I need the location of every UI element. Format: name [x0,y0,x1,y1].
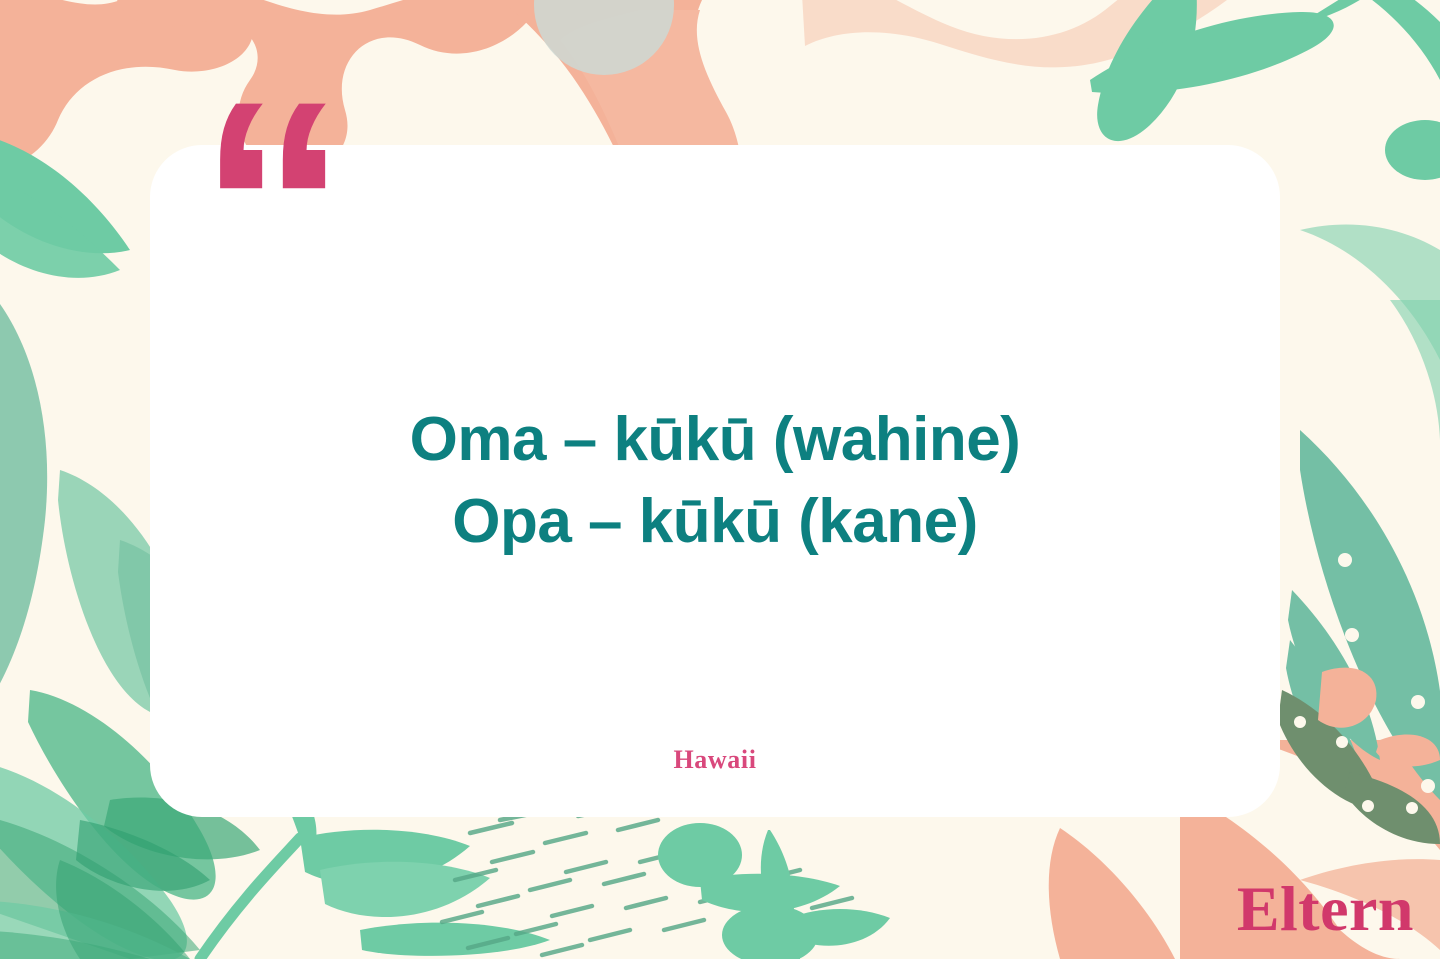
quote-card-canvas: Oma – kūkū (wahine) Opa – kūkū (kane) Ha… [0,0,1440,959]
quote-line-2: Opa – kūkū (kane) [452,481,978,563]
quote-line-1: Oma – kūkū (wahine) [410,399,1021,481]
quote-attribution: Hawaii [150,745,1280,775]
double-quote-icon: “ [198,56,340,356]
eltern-brand-logo: Eltern [1237,877,1414,941]
